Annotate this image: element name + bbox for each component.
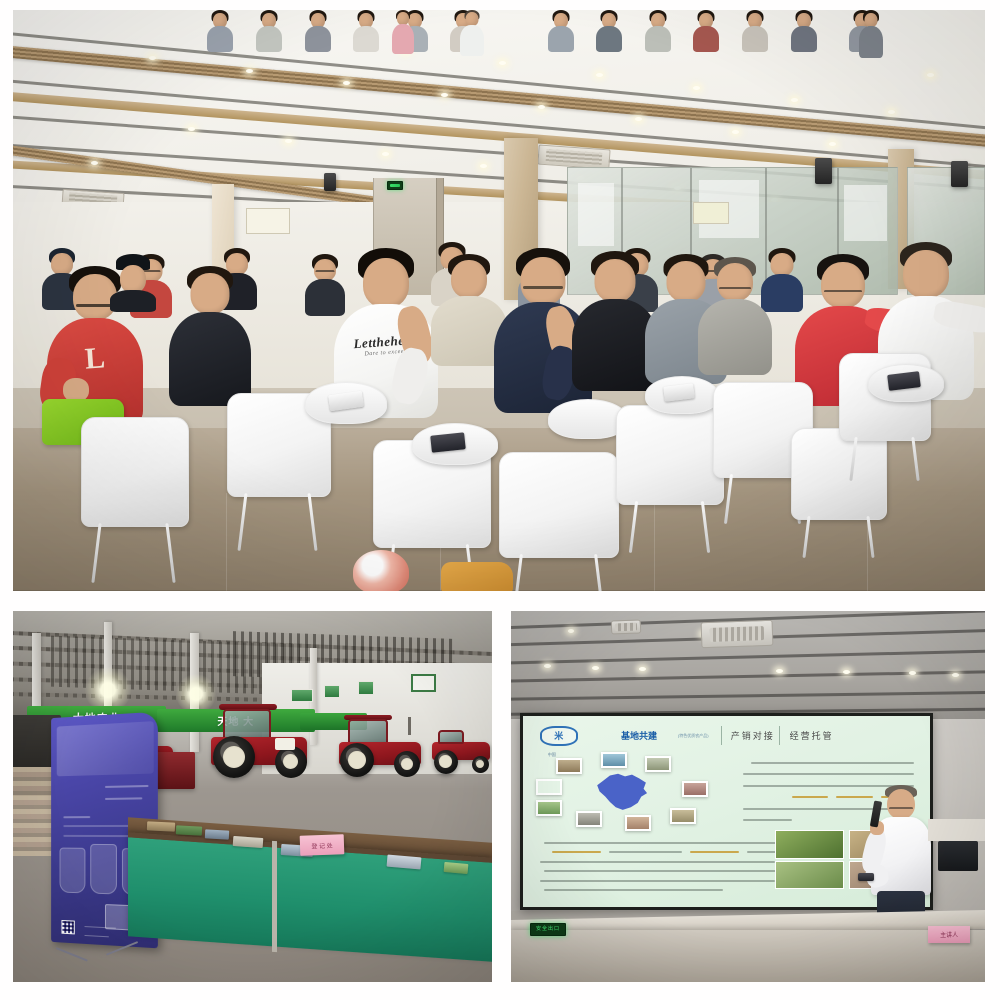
- photo-seminar-audience[interactable]: L Letthehead Dare to exceed: [13, 10, 985, 591]
- tractor: [430, 730, 492, 778]
- foreground-object: [441, 562, 513, 591]
- photo-tractor-expo[interactable]: 大地农业 天地 大: [13, 611, 492, 982]
- chair-with-tablet-arm: [81, 417, 189, 587]
- china-map: [593, 769, 651, 813]
- slide-tab-0: 基地共建: [621, 729, 657, 742]
- monitor: [938, 841, 978, 871]
- slide-tab-2: 经营托管: [790, 729, 834, 742]
- slide-tab-0-note: (特色优质农产品): [678, 733, 709, 739]
- chair-with-tablet-arm: [499, 452, 619, 591]
- phone-on-tablet-arm: [887, 371, 921, 391]
- chair-with-tablet-arm: [616, 405, 724, 553]
- registration-sign-text: 登 记 处: [312, 841, 334, 851]
- slide-logo-caption: 中国: [548, 752, 556, 758]
- ac-vent-icon: [537, 144, 610, 169]
- slide-tab-1: 产销对接: [731, 729, 775, 742]
- photo-collage: L Letthehead Dare to exceed: [0, 0, 1000, 1000]
- remote-clicker: [858, 873, 874, 881]
- speaker-name-card-text: 主讲人: [940, 930, 958, 939]
- slide-logo: 米: [540, 726, 578, 746]
- slide-logo-text: 米: [554, 729, 563, 742]
- ceiling-ac-unit: [610, 619, 640, 634]
- qr-code-icon: [61, 920, 74, 934]
- ceiling-ac-unit: [700, 620, 773, 648]
- exit-sign-text: 安全出口: [536, 927, 560, 932]
- exit-sign-icon: [387, 181, 403, 190]
- photo-lecture-presentation[interactable]: 米 中国 基地共建 (特色优质农产品) 产销对接 经营托管: [511, 611, 985, 982]
- audience-member-dark-shirt: [169, 266, 251, 406]
- audience-member-cap: [110, 254, 156, 312]
- exit-sign-icon: 安全出口: [530, 923, 566, 936]
- foreground-object: [353, 550, 409, 591]
- tractor: [205, 704, 325, 786]
- speaker-box-icon: [324, 173, 336, 191]
- speaker-name-card: 主讲人: [928, 926, 970, 943]
- tractor: [334, 715, 438, 785]
- registration-sign: 登 记 处: [300, 835, 345, 857]
- front-desk: [511, 930, 985, 982]
- lecture-room-ceiling: [511, 611, 985, 722]
- speaker-box-icon: [951, 161, 968, 187]
- speaker-box-icon: [815, 158, 832, 184]
- red-shirt-letter: L: [84, 341, 106, 376]
